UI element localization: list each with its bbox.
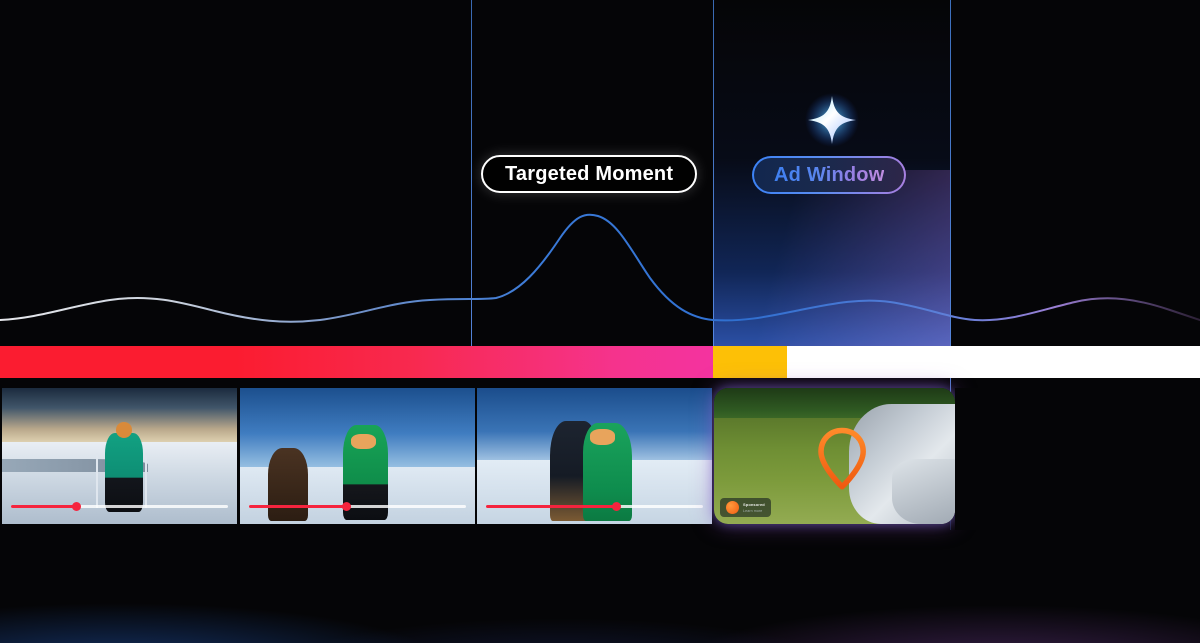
video-thumbnail-2[interactable] — [240, 388, 475, 524]
progress-fill — [249, 505, 346, 508]
map-pin-icon — [818, 426, 866, 491]
timeline-ad-segment[interactable] — [713, 346, 787, 378]
ad-thumbnail[interactable]: Sponsored Learn more — [714, 388, 955, 524]
ad-window-text: Ad Window — [774, 164, 884, 187]
thumbnail-strip-mask — [955, 388, 1200, 530]
sponsor-name: Sponsored — [743, 503, 765, 507]
progress-fill — [486, 505, 616, 508]
video-thumbnail-3[interactable] — [477, 388, 712, 524]
sponsor-detail: Learn more — [743, 509, 765, 513]
rock-foreground — [892, 459, 955, 524]
timeline-content-segment[interactable] — [0, 346, 713, 378]
ad-sponsor-badge[interactable]: Sponsored Learn more — [720, 498, 771, 517]
targeted-moment-text: Targeted Moment — [505, 163, 673, 186]
progress-knob[interactable] — [72, 502, 81, 511]
ad-timeline-scene: Targeted Moment Ad Window — [0, 0, 1200, 643]
trekking-pole-left — [96, 453, 98, 507]
progress-bar[interactable] — [249, 505, 465, 508]
sparkle-icon — [803, 91, 861, 149]
progress-knob[interactable] — [612, 502, 621, 511]
progress-fill — [11, 505, 76, 508]
ad-window-label[interactable]: Ad Window — [752, 156, 906, 194]
progress-bar[interactable] — [486, 505, 702, 508]
timeline-bar[interactable] — [0, 346, 1200, 378]
targeted-moment-label[interactable]: Targeted Moment — [481, 155, 697, 193]
video-thumbnail-1[interactable] — [2, 388, 237, 524]
climber-figure-brown — [268, 448, 308, 521]
hiker-figure — [105, 433, 143, 512]
sponsor-logo-icon — [726, 501, 739, 514]
bottom-ambient-glow — [0, 548, 1200, 643]
trekking-pole-right — [145, 453, 147, 507]
progress-bar[interactable] — [11, 505, 227, 508]
timeline-remaining-segment[interactable] — [787, 346, 1200, 378]
